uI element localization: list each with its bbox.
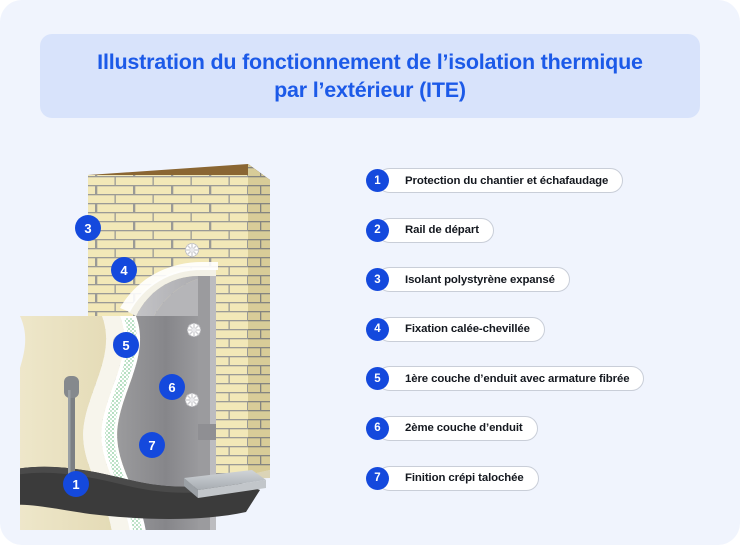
callout-badge-1[interactable]: 1 [63,471,89,497]
legend-item-6[interactable]: 2ème couche d’enduit 6 [366,416,696,441]
callout-1-number: 1 [72,477,79,492]
legend-label-7: Finition crépi talochée [405,472,524,484]
infographic-page: Illustration du fonctionnement de l’isol… [0,0,740,545]
legend-badge-6: 6 [366,417,389,440]
legend-list: Protection du chantier et échafaudage 1 … [366,168,696,515]
page-title-line-2: par l’extérieur (ITE) [274,78,466,102]
legend-pill-7: Finition crépi talochée [377,466,539,491]
legend-pill-4: Fixation calée-chevillée [377,317,545,342]
legend-item-5[interactable]: 1ère couche d’enduit avec armature fibré… [366,366,696,391]
ite-wall-cutaway-illustration: 3 4 5 6 7 [20,140,350,530]
title-banner: Illustration du fonctionnement de l’isol… [40,34,700,118]
legend-label-3: Isolant polystyrène expansé [405,274,555,286]
legend-label-2: Rail de départ [405,224,479,236]
legend-item-2[interactable]: Rail de départ 2 [366,218,696,243]
callout-badge-4[interactable]: 4 [111,257,137,283]
page-title: Illustration du fonctionnement de l’isol… [97,48,643,105]
legend-item-3[interactable]: Isolant polystyrène expansé 3 [366,267,696,292]
callout-badge-3[interactable]: 3 [75,215,101,241]
callout-badge-5[interactable]: 5 [113,332,139,358]
legend-badge-7: 7 [366,467,389,490]
legend-pill-5: 1ère couche d’enduit avec armature fibré… [377,366,644,391]
legend-badge-1: 1 [366,169,389,192]
callout-7-number: 7 [148,438,155,453]
callout-4-number: 4 [120,263,128,278]
callout-badge-6[interactable]: 6 [159,374,185,400]
legend-item-7[interactable]: Finition crépi talochée 7 [366,466,696,491]
legend-pill-1: Protection du chantier et échafaudage [377,168,623,193]
legend-pill-3: Isolant polystyrène expansé [377,267,570,292]
legend-label-6: 2ème couche d’enduit [405,422,523,434]
callout-3-number: 3 [84,221,91,236]
legend-pill-2: Rail de départ [377,218,494,243]
legend-label-4: Fixation calée-chevillée [405,323,530,335]
legend-badge-4: 4 [366,318,389,341]
legend-item-1[interactable]: Protection du chantier et échafaudage 1 [366,168,696,193]
callout-5-number: 5 [122,338,129,353]
legend-label-5: 1ère couche d’enduit avec armature fibré… [405,373,629,385]
legend-item-4[interactable]: Fixation calée-chevillée 4 [366,317,696,342]
legend-label-1: Protection du chantier et échafaudage [405,175,608,187]
callout-badge-7[interactable]: 7 [139,432,165,458]
legend-badge-2: 2 [366,219,389,242]
legend-pill-6: 2ème couche d’enduit [377,416,538,441]
page-title-line-1: Illustration du fonctionnement de l’isol… [97,50,643,74]
callout-6-number: 6 [168,380,175,395]
